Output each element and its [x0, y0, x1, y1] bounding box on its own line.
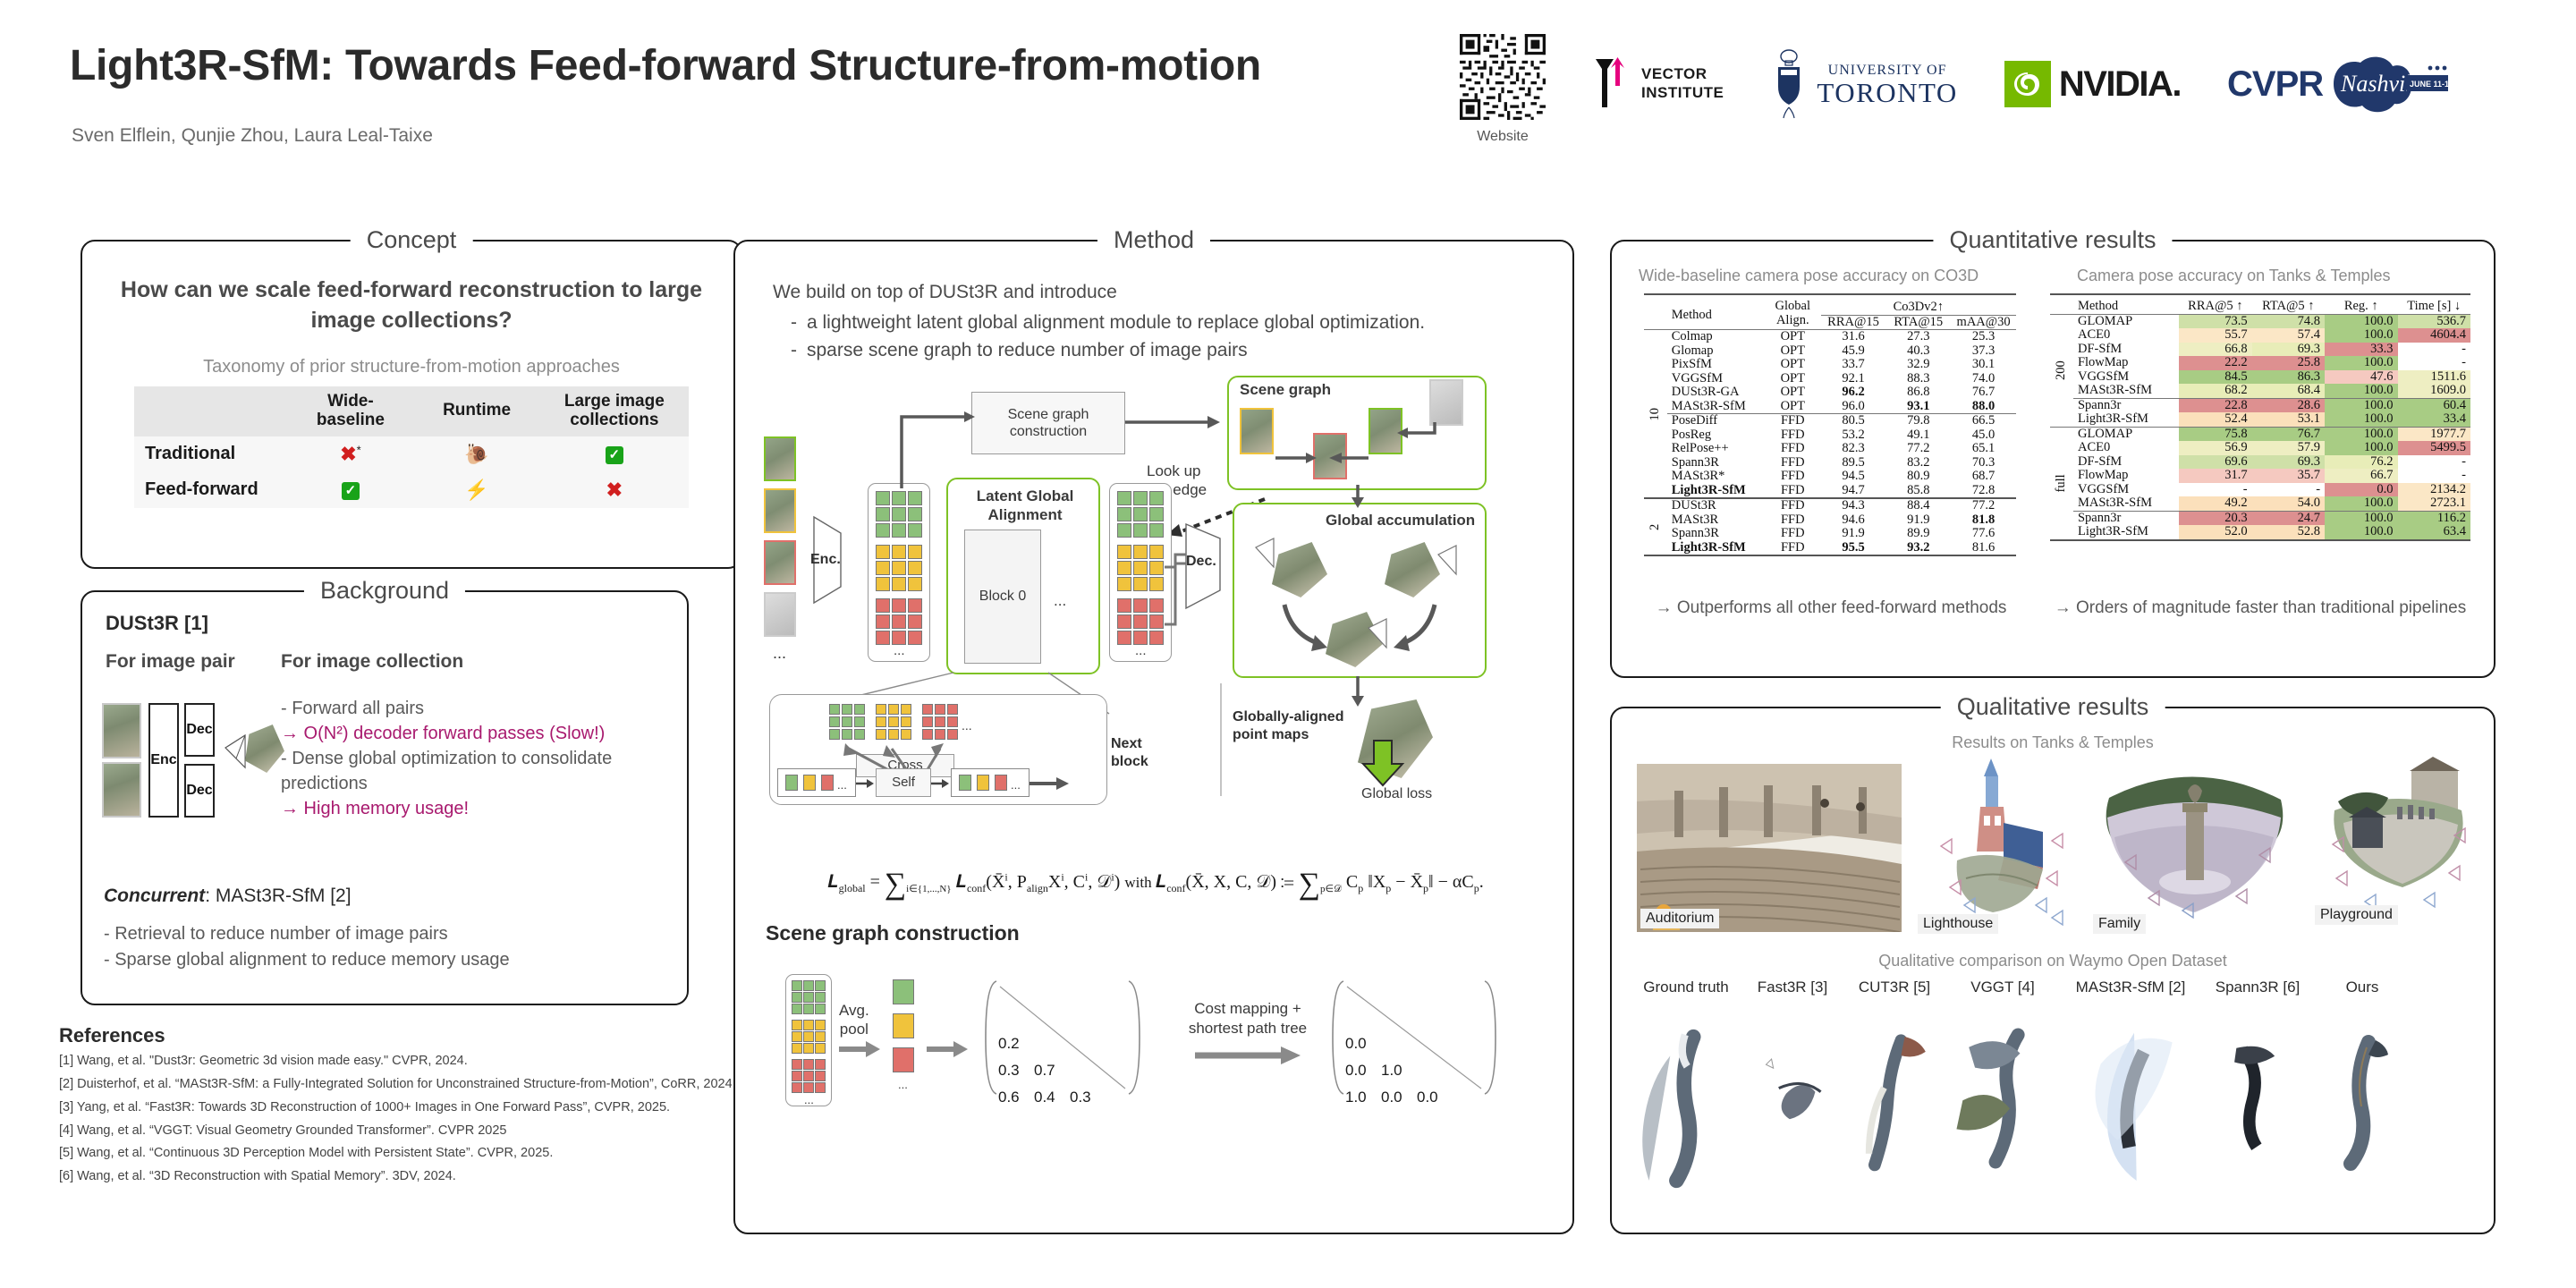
waymo-method-label: VGGT [4]: [1946, 979, 2059, 996]
co3d-cell-rta: 91.9: [1885, 513, 1951, 528]
co3d-cell-maa: 30.1: [1951, 358, 2016, 372]
taxonomy-row-traditional-label: Traditional: [134, 436, 287, 472]
co3d-cell-rra: 33.7: [1821, 358, 1886, 372]
co3d-cell-method: Glomap: [1667, 344, 1765, 359]
cvpr-nashville-badge: Nashville JUNE 11-15, 2025: [2318, 52, 2452, 116]
co3d-cell-maa: 88.0: [1951, 400, 2016, 414]
table-row: PixSfMOPT33.732.930.1: [1644, 358, 2016, 372]
co3d-cell-method: PosReg: [1667, 428, 1765, 443]
co3d-cell-rra: 80.5: [1821, 414, 1886, 428]
table-row: PosRegFFD53.249.145.0: [1644, 428, 2016, 443]
global-loss-equation: 𝑳global = ∑i∈{1,...,N} 𝑳conf(X̄i, Palign…: [762, 868, 1549, 902]
website-qr-block[interactable]: Website: [1453, 34, 1552, 145]
tanks-cell-0: 22.2: [2179, 356, 2251, 370]
co3d-cell-align: FFD: [1765, 513, 1821, 528]
tokens-out-strip: ...: [951, 768, 1030, 797]
concurrent-label: Concurrent: [104, 885, 205, 906]
arrow-sgc-to-scene-graph: [1125, 411, 1224, 433]
matrix-left-r3c3: 0.3: [1070, 1089, 1091, 1106]
tokens-ellipsis: ...: [894, 643, 905, 659]
check-icon: ✓: [342, 482, 360, 500]
background-col-b-header: For image collection: [281, 651, 463, 673]
waymo-reconstruction: [1843, 1016, 1946, 1195]
encoder-label: Enc.: [810, 551, 841, 568]
tanks-cell-1: 69.3: [2252, 455, 2325, 470]
matrix-right-r1c1: 0.0: [1345, 1035, 1367, 1053]
co3d-th-4: mAA@30: [1951, 315, 2016, 330]
tanks-group-label: 200: [2050, 314, 2073, 427]
matrix-right-r3c2: 0.0: [1381, 1089, 1402, 1106]
co3d-cell-method: DUSt3R: [1667, 498, 1765, 513]
arrow-next-block: [1030, 775, 1071, 792]
table-row: Light3R-SfMFFD95.593.281.6: [1644, 541, 2016, 556]
co3d-table: MethodGlobalAlign.Co3Dv2↑RRA@15RTA@15mAA…: [1644, 293, 2016, 556]
check-icon: ✓: [606, 446, 623, 464]
tanks-cell-1: 54.0: [2252, 496, 2325, 511]
qualitative-panel: Qualitative results Results on Tanks & T…: [1610, 707, 2495, 1234]
poster-header: Light3R-SfM: Towards Feed-forward Struct…: [0, 0, 2576, 192]
table-row: GlomapOPT45.940.337.3: [1644, 344, 2016, 359]
table-row: Traditional ✖* 🐌 ✓: [134, 436, 689, 472]
concept-question: How can we scale feed-forward reconstruc…: [118, 275, 705, 335]
co3d-cell-maa: 25.3: [1951, 330, 2016, 344]
vector-institute-logo: VECTOR INSTITUTE: [1592, 47, 1724, 122]
co3d-cell-method: MASt3R*: [1667, 470, 1765, 484]
tanks-cell-3: 63.4: [2398, 525, 2471, 540]
arrow-scenegraph-to-accum: [1347, 485, 1372, 508]
waymo-reconstruction: [2202, 1016, 2313, 1195]
tanks-cell-method: VGGSfM: [2073, 370, 2179, 385]
co3d-bottom-rule: [1644, 555, 2016, 556]
table-row: 200GLOMAP73.574.8100.0536.7: [2050, 314, 2470, 328]
taxonomy-table: Wide-baseline Runtime Large imagecollect…: [134, 386, 689, 508]
tanks-cell-2: 100.0: [2325, 412, 2397, 427]
co3d-cell-maa: 65.1: [1951, 442, 2016, 456]
vector-line2: INSTITUTE: [1641, 84, 1724, 103]
global-loss-label: Global loss: [1361, 785, 1432, 802]
tanks-cell-3: 2723.1: [2398, 496, 2471, 511]
concept-panel: Concept How can we scale feed-forward re…: [80, 240, 742, 569]
qr-caption: Website: [1453, 129, 1552, 145]
co3d-cell-maa: 45.0: [1951, 428, 2016, 443]
tanks-th-2: RTA@5 ↑: [2252, 294, 2325, 314]
co3d-cell-maa: 70.3: [1951, 456, 2016, 470]
input-thumb-yellow: [764, 488, 796, 533]
co3d-cell-maa: 68.7: [1951, 470, 2016, 484]
scene-graph-construction-block: Scene graph construction: [971, 392, 1125, 454]
arrow-accum-to-output: [1347, 676, 1372, 708]
authors-line: Sven Elflein, Qunjie Zhou, Laura Leal-Ta…: [72, 125, 433, 147]
uoft-crest-icon: [1770, 48, 1808, 120]
waymo-reconstruction: [1628, 1016, 1744, 1195]
input-thumb-gray: [764, 592, 796, 637]
tanks-cell-method: VGGSfM: [2073, 483, 2179, 497]
co3d-cell-method: DUSt3R-GA: [1667, 386, 1765, 400]
tanks-table: MethodRRA@5 ↑RTA@5 ↑Reg. ↑Time [s] ↓200G…: [2050, 293, 2470, 541]
strip-ellipsis: ...: [837, 778, 847, 792]
co3d-cell-rra: 96.0: [1821, 400, 1886, 414]
university-of-toronto-logo: UNIVERSITY OF TORONTO: [1770, 47, 1957, 122]
co3d-takeaway: → Outperforms all other feed-forward met…: [1621, 597, 2041, 620]
tanks-cell-3: -: [2398, 455, 2471, 470]
input-image-thumb: [102, 703, 141, 758]
qual-caption-lighthouse: Lighthouse: [1918, 914, 1998, 934]
poster-root: Light3R-SfM: Towards Feed-forward Struct…: [0, 0, 2576, 1288]
lightning-icon: ⚡: [464, 479, 488, 501]
taxonomy-feedforward-runtime: ⚡: [414, 472, 540, 508]
next-block-label: Nextblock: [1111, 735, 1148, 771]
tanks-cell-1: 53.1: [2252, 412, 2325, 427]
matrix-right-r2c1: 0.0: [1345, 1062, 1367, 1080]
co3d-cell-rra: 53.2: [1821, 428, 1886, 443]
co3d-cell-method: RelPose++: [1667, 442, 1765, 456]
tanks-cell-method: GLOMAP: [2073, 314, 2179, 328]
tanks-cell-0: 52.4: [2179, 412, 2251, 427]
matrix-left-r2c1: 0.3: [998, 1062, 1020, 1080]
method-panel: Method We build on top of DUSt3R and int…: [733, 240, 1574, 1234]
background-subtitle: DUSt3R [1]: [106, 612, 208, 635]
tokens-ellipsis: ...: [1135, 643, 1147, 659]
input-ellipsis: ...: [773, 644, 786, 664]
method-bullet-1: sparse scene graph to reduce number of i…: [789, 337, 1425, 364]
tanks-cell-0: 84.5: [2179, 370, 2251, 385]
sgc-ellipsis: ...: [804, 1093, 814, 1107]
co3d-cell-align: FFD: [1765, 470, 1821, 484]
tokens-to-decoder-arrows: [1159, 551, 1191, 649]
waymo-reconstruction: [2059, 1016, 2202, 1195]
tanks-cell-method: ACE0: [2073, 328, 2179, 343]
tanks-cell-2: 100.0: [2325, 496, 2397, 511]
waymo-method-label: Ours: [2313, 979, 2411, 996]
qual-caption-auditorium: Auditorium: [1640, 909, 1719, 928]
tanks-cell-1: 35.7: [2252, 469, 2325, 483]
tanks-cell-2: 66.7: [2325, 469, 2397, 483]
tanks-group-label: full: [2050, 427, 2073, 540]
co3d-cell-method: PoseDiff: [1667, 414, 1765, 428]
tanks-cell-2: 100.0: [2325, 356, 2397, 370]
qr-code-icon[interactable]: [1460, 34, 1546, 120]
strip-ellipsis: ...: [1011, 778, 1021, 792]
co3d-cell-rra: 94.3: [1821, 498, 1886, 513]
tanks-cell-method: Spann3r: [2073, 511, 2179, 525]
tanks-cell-method: MASt3R-SfM: [2073, 496, 2179, 511]
co3d-cell-align: OPT: [1765, 400, 1821, 414]
taxonomy-header-row: Wide-baseline Runtime Large imagecollect…: [134, 386, 689, 436]
co3d-group-label: 2: [1644, 498, 1667, 555]
method-panel-title: Method: [1097, 226, 1210, 254]
waymo-caption: Qualitative comparison on Waymo Open Dat…: [1612, 952, 2494, 970]
table-row: RelPose++FFD82.377.265.1: [1644, 442, 2016, 456]
co3d-cell-rra: 94.7: [1821, 484, 1886, 499]
co3d-cell-rta: 89.9: [1885, 527, 1951, 541]
co3d-cell-maa: 66.5: [1951, 414, 2016, 428]
taxonomy-feedforward-wide: ✓: [287, 472, 413, 508]
table-row: Feed-forward ✓ ⚡ ✖: [134, 472, 689, 508]
tanks-cell-0: 20.3: [2179, 511, 2251, 525]
references-heading: References: [59, 1024, 766, 1047]
co3d-cell-maa: 81.6: [1951, 541, 2016, 556]
tanks-cell-0: 55.7: [2179, 328, 2251, 343]
tanks-table-caption: Camera pose accuracy on Tanks & Temples: [2077, 267, 2391, 285]
tanks-cell-2: 100.0: [2325, 427, 2397, 441]
taxonomy-col-wide: Wide-baseline: [287, 386, 413, 436]
arrow-to-matrix: [927, 1040, 968, 1058]
co3d-cell-maa: 72.8: [1951, 484, 2016, 499]
reference-item: [2] Duisterhof, et al. “MASt3R-SfM: a Fu…: [59, 1076, 766, 1093]
waymo-method-label: Ground truth: [1628, 979, 1744, 996]
table-row: VGGSfM--0.02134.2: [2050, 483, 2470, 497]
table-row: ACE055.757.4100.04604.4: [2050, 328, 2470, 343]
block-0-label: Block 0: [979, 588, 1026, 605]
tanks-cell-0: 52.0: [2179, 525, 2251, 540]
table-row: MASt3RFFD94.691.981.8: [1644, 513, 2016, 528]
tanks-cell-3: 4604.4: [2398, 328, 2471, 343]
co3d-cell-align: FFD: [1765, 498, 1821, 513]
blocks-ellipsis: ...: [1054, 592, 1066, 610]
co3d-cell-rta: 88.3: [1885, 372, 1951, 386]
background-points: - Forward all pairs → O(N²) decoder forw…: [281, 696, 661, 821]
input-image-thumb: [102, 762, 141, 818]
tanks-cell-1: 68.4: [2252, 384, 2325, 398]
tanks-cell-2: 0.0: [2325, 483, 2397, 497]
co3d-th-3: RTA@15: [1885, 315, 1951, 330]
tanks-cell-0: 31.7: [2179, 469, 2251, 483]
matrix-left-r3c2: 0.4: [1034, 1089, 1055, 1106]
co3d-cell-maa: 37.3: [1951, 344, 2016, 359]
table-row: MASt3R*FFD94.580.968.7: [1644, 470, 2016, 484]
table-row: Spann3RFFD89.583.270.3: [1644, 456, 2016, 470]
tanks-cell-0: 49.2: [2179, 496, 2251, 511]
qualitative-panel-title: Qualitative results: [1941, 693, 2165, 721]
vector-institute-text: VECTOR INSTITUTE: [1641, 65, 1724, 102]
vector-mark-icon: [1592, 55, 1633, 113]
qual-caption-playground: Playground: [2315, 905, 2398, 925]
qual-image-auditorium: Auditorium: [1637, 764, 1902, 932]
pooled-green: [893, 979, 914, 1004]
co3d-cell-rra: 95.5: [1821, 541, 1886, 556]
background-col-a-header: For image pair: [106, 651, 235, 673]
table-row: 2DUSt3RFFD94.388.477.2: [1644, 498, 2016, 513]
arrow-self-out: [931, 777, 951, 790]
co3d-cell-rra: 31.6: [1821, 330, 1886, 344]
references-section: References [1] Wang, et al. "Dust3r: Geo…: [59, 1024, 766, 1191]
tanks-cell-3: 33.4: [2398, 412, 2471, 427]
quantitative-panel-title: Quantitative results: [1933, 226, 2172, 254]
qual-caption-family: Family: [2093, 914, 2146, 934]
cross-icon: ✖: [606, 479, 623, 501]
tanks-cell-method: GLOMAP: [2073, 427, 2179, 441]
table-row: Light3R-SfMFFD94.785.872.8: [1644, 484, 2016, 499]
table-row: DF-SfM69.669.376.2-: [2050, 455, 2470, 470]
tanks-cell-1: 57.4: [2252, 328, 2325, 343]
co3d-cell-rta: 86.8: [1885, 386, 1951, 400]
co3d-cell-method: Colmap: [1667, 330, 1765, 344]
taxonomy-caption: Taxonomy of prior structure-from-motion …: [82, 357, 741, 377]
tanks-cell-1: 57.9: [2252, 441, 2325, 455]
co3d-cell-method: VGGSfM: [1667, 372, 1765, 386]
tanks-cell-0: -: [2179, 483, 2251, 497]
co3d-cell-align: OPT: [1765, 344, 1821, 359]
tanks-cell-method: FlowMap: [2073, 356, 2179, 370]
tanks-cell-2: 100.0: [2325, 328, 2397, 343]
co3d-cell-rra: 94.5: [1821, 470, 1886, 484]
co3d-th-group: Co3Dv2↑: [1821, 294, 2016, 315]
table-row: Spann3RFFD91.989.977.6: [1644, 527, 2016, 541]
co3d-cell-maa: 76.7: [1951, 386, 2016, 400]
decoder-block: Dec: [184, 764, 215, 818]
reference-item: [3] Yang, et al. “Fast3R: Towards 3D Rec…: [59, 1099, 766, 1116]
co3d-th-method: Method: [1667, 294, 1765, 330]
arrow-to-self: [856, 777, 876, 790]
tanks-cell-2: 47.6: [2325, 370, 2397, 385]
co3d-cell-maa: 77.6: [1951, 527, 2016, 541]
tanks-cell-1: 28.6: [2252, 398, 2325, 412]
sgc-heading: Scene graph construction: [766, 921, 1020, 945]
nvidia-logo: NVIDIA.: [2004, 47, 2181, 122]
tanks-cell-method: DF-SfM: [2073, 455, 2179, 470]
co3d-cell-rta: 93.2: [1885, 541, 1951, 556]
global-accumulation-label: Global accumulation: [1326, 512, 1475, 530]
tanks-th-1: RRA@5 ↑: [2179, 294, 2251, 314]
arrow-avgpool: [839, 1040, 880, 1058]
reference-item: [5] Wang, et al. “Continuous 3D Percepti…: [59, 1145, 766, 1162]
co3d-cell-rta: 40.3: [1885, 344, 1951, 359]
table-row: MASt3R-SfM49.254.0100.02723.1: [2050, 496, 2470, 511]
tanks-cell-2: 100.0: [2325, 398, 2397, 412]
cvpr-nashville-logo: CVPR Nashville JUNE 11-15, 2025: [2227, 47, 2452, 122]
diagram-divider: [1220, 683, 1222, 796]
tanks-cell-2: 100.0: [2325, 384, 2397, 398]
matrix-right-r3c3: 0.0: [1417, 1089, 1438, 1106]
tanks-cell-0: 73.5: [2179, 314, 2251, 328]
co3d-cell-align: FFD: [1765, 428, 1821, 443]
concept-panel-title: Concept: [351, 226, 473, 254]
tanks-cell-3: 60.4: [2398, 398, 2471, 412]
tanks-cell-3: 2134.2: [2398, 483, 2471, 497]
tanks-cell-3: -: [2398, 343, 2471, 357]
waymo-method-label: MASt3R-SfM [2]: [2059, 979, 2202, 996]
tanks-cell-3: 1977.7: [2398, 427, 2471, 441]
matrix-right-r3c1: 1.0: [1345, 1089, 1367, 1106]
tanks-cell-3: 1511.6: [2398, 370, 2471, 385]
tanks-th-method: Method: [2073, 294, 2179, 314]
co3d-cell-method: Light3R-SfM: [1667, 541, 1765, 556]
waymo-reconstruction: [1946, 1016, 2059, 1195]
table-row: MASt3R-SfMOPT96.093.188.0: [1644, 400, 2016, 414]
co3d-cell-rra: 82.3: [1821, 442, 1886, 456]
method-intro: We build on top of DUSt3R and introduce …: [773, 279, 1425, 364]
co3d-cell-rta: 27.3: [1885, 330, 1951, 344]
method-bullet-0: a lightweight latent global alignment mo…: [789, 309, 1425, 336]
tanks-cell-1: 52.8: [2252, 525, 2325, 540]
co3d-cell-rta: 49.1: [1885, 428, 1951, 443]
co3d-cell-align: FFD: [1765, 414, 1821, 428]
bg-point-0: - Forward all pairs: [281, 696, 661, 721]
co3d-cell-align: FFD: [1765, 456, 1821, 470]
co3d-cell-align: FFD: [1765, 442, 1821, 456]
tanks-cell-0: 69.6: [2179, 455, 2251, 470]
sponsor-logos: VECTOR INSTITUTE UNIVERSITY OF TORONTO: [1592, 43, 2452, 125]
tanks-cell-1: 86.3: [2252, 370, 2325, 385]
matrix-left-r2c2: 0.7: [1034, 1062, 1055, 1080]
waymo-method-label: Spann3R [6]: [2202, 979, 2313, 996]
pooled-ellipsis: ...: [898, 1078, 908, 1092]
vector-line1: VECTOR: [1641, 65, 1724, 84]
taxonomy-row-feedforward-label: Feed-forward: [134, 472, 287, 508]
method-pipeline-diagram: ... Enc. ... Scene graph construction: [742, 376, 1569, 796]
table-row: fullGLOMAP75.876.7100.01977.7: [2050, 427, 2470, 441]
svg-text:JUNE 11-15, 2025: JUNE 11-15, 2025: [2410, 80, 2452, 89]
co3d-th-align: GlobalAlign.: [1765, 294, 1821, 330]
block-0: Block 0: [964, 530, 1041, 664]
snail-icon: 🐌: [464, 443, 488, 465]
co3d-cell-rta: 88.4: [1885, 498, 1951, 513]
tanks-cell-2: 100.0: [2325, 441, 2397, 455]
sgc-token-column: ...: [785, 974, 832, 1106]
nvidia-eye-icon: [2004, 61, 2051, 107]
table-row: VGGSfMOPT92.188.374.0: [1644, 372, 2016, 386]
globally-aligned-label: Globally-alignedpoint maps: [1233, 708, 1349, 744]
co3d-cell-rta: 77.2: [1885, 442, 1951, 456]
waymo-reconstruction: [2313, 1016, 2411, 1195]
co3d-cell-method: Light3R-SfM: [1667, 484, 1765, 499]
tanks-bottom-rule: [2050, 540, 2470, 541]
uoft-line2: TORONTO: [1817, 79, 1957, 106]
tanks-cell-0: 66.8: [2179, 343, 2251, 357]
bg-point-1: → O(N²) decoder forward passes (Slow!): [281, 721, 661, 746]
token-column-pre: ...: [868, 483, 930, 662]
co3d-cell-rta: 83.2: [1885, 456, 1951, 470]
encoder-block: Enc: [148, 703, 179, 818]
detail-ellipsis: ...: [962, 718, 972, 733]
tanks-cell-1: -: [2252, 483, 2325, 497]
co3d-group-label: 10: [1644, 330, 1667, 499]
co3d-cell-align: OPT: [1765, 330, 1821, 344]
method-intro-line: We build on top of DUSt3R and introduce: [773, 279, 1425, 306]
co3d-th-2: RRA@15: [1821, 315, 1886, 330]
co3d-cell-rta: 93.1: [1885, 400, 1951, 414]
reference-item: [6] Wang, et al. “3D Reconstruction with…: [59, 1168, 766, 1185]
tanks-cell-2: 100.0: [2325, 314, 2397, 328]
tanks-cell-1: 74.8: [2252, 314, 2325, 328]
table-row: MASt3R-SfM68.268.4100.01609.0: [2050, 384, 2470, 398]
table-row: FlowMap31.735.766.7-: [2050, 469, 2470, 483]
concurrent-bullets: - Retrieval to reduce number of image pa…: [104, 921, 510, 973]
co3d-cell-rta: 32.9: [1885, 358, 1951, 372]
tanks-cell-method: Spann3r: [2073, 398, 2179, 412]
nvidia-wordmark: NVIDIA.: [2059, 64, 2181, 105]
co3d-cell-method: Spann3R: [1667, 456, 1765, 470]
sgc-diagram: ... Avg.pool ... 0.2 0.3 0.7 0.6 0.4: [753, 962, 1558, 1127]
table-row: DUSt3R-GAOPT96.286.876.7: [1644, 386, 2016, 400]
concurrent-value: : MASt3R-SfM [2]: [205, 885, 351, 906]
tanks-cell-0: 75.8: [2179, 427, 2251, 441]
background-panel-title: Background: [304, 577, 465, 605]
latent-global-alignment-label: Latent GlobalAlignment: [959, 487, 1091, 525]
table-row: Spann3r22.828.6100.060.4: [2050, 398, 2470, 412]
quantitative-panel: Quantitative results Wide-baseline camer…: [1610, 240, 2495, 678]
co3d-cell-rta: 79.8: [1885, 414, 1951, 428]
taxonomy-traditional-wide: ✖*: [287, 436, 413, 472]
bg-point-2: - Dense global optimization to consolida…: [281, 746, 661, 796]
concurrent-line: Concurrent: MASt3R-SfM [2]: [104, 885, 352, 907]
pooled-yellow: [893, 1013, 914, 1038]
taxonomy-col-runtime: Runtime: [414, 386, 540, 436]
co3d-cell-align: FFD: [1765, 527, 1821, 541]
co3d-cell-rra: 92.1: [1821, 372, 1886, 386]
waymo-reconstruction: [1742, 1016, 1843, 1195]
tanks-cell-method: ACE0: [2073, 441, 2179, 455]
